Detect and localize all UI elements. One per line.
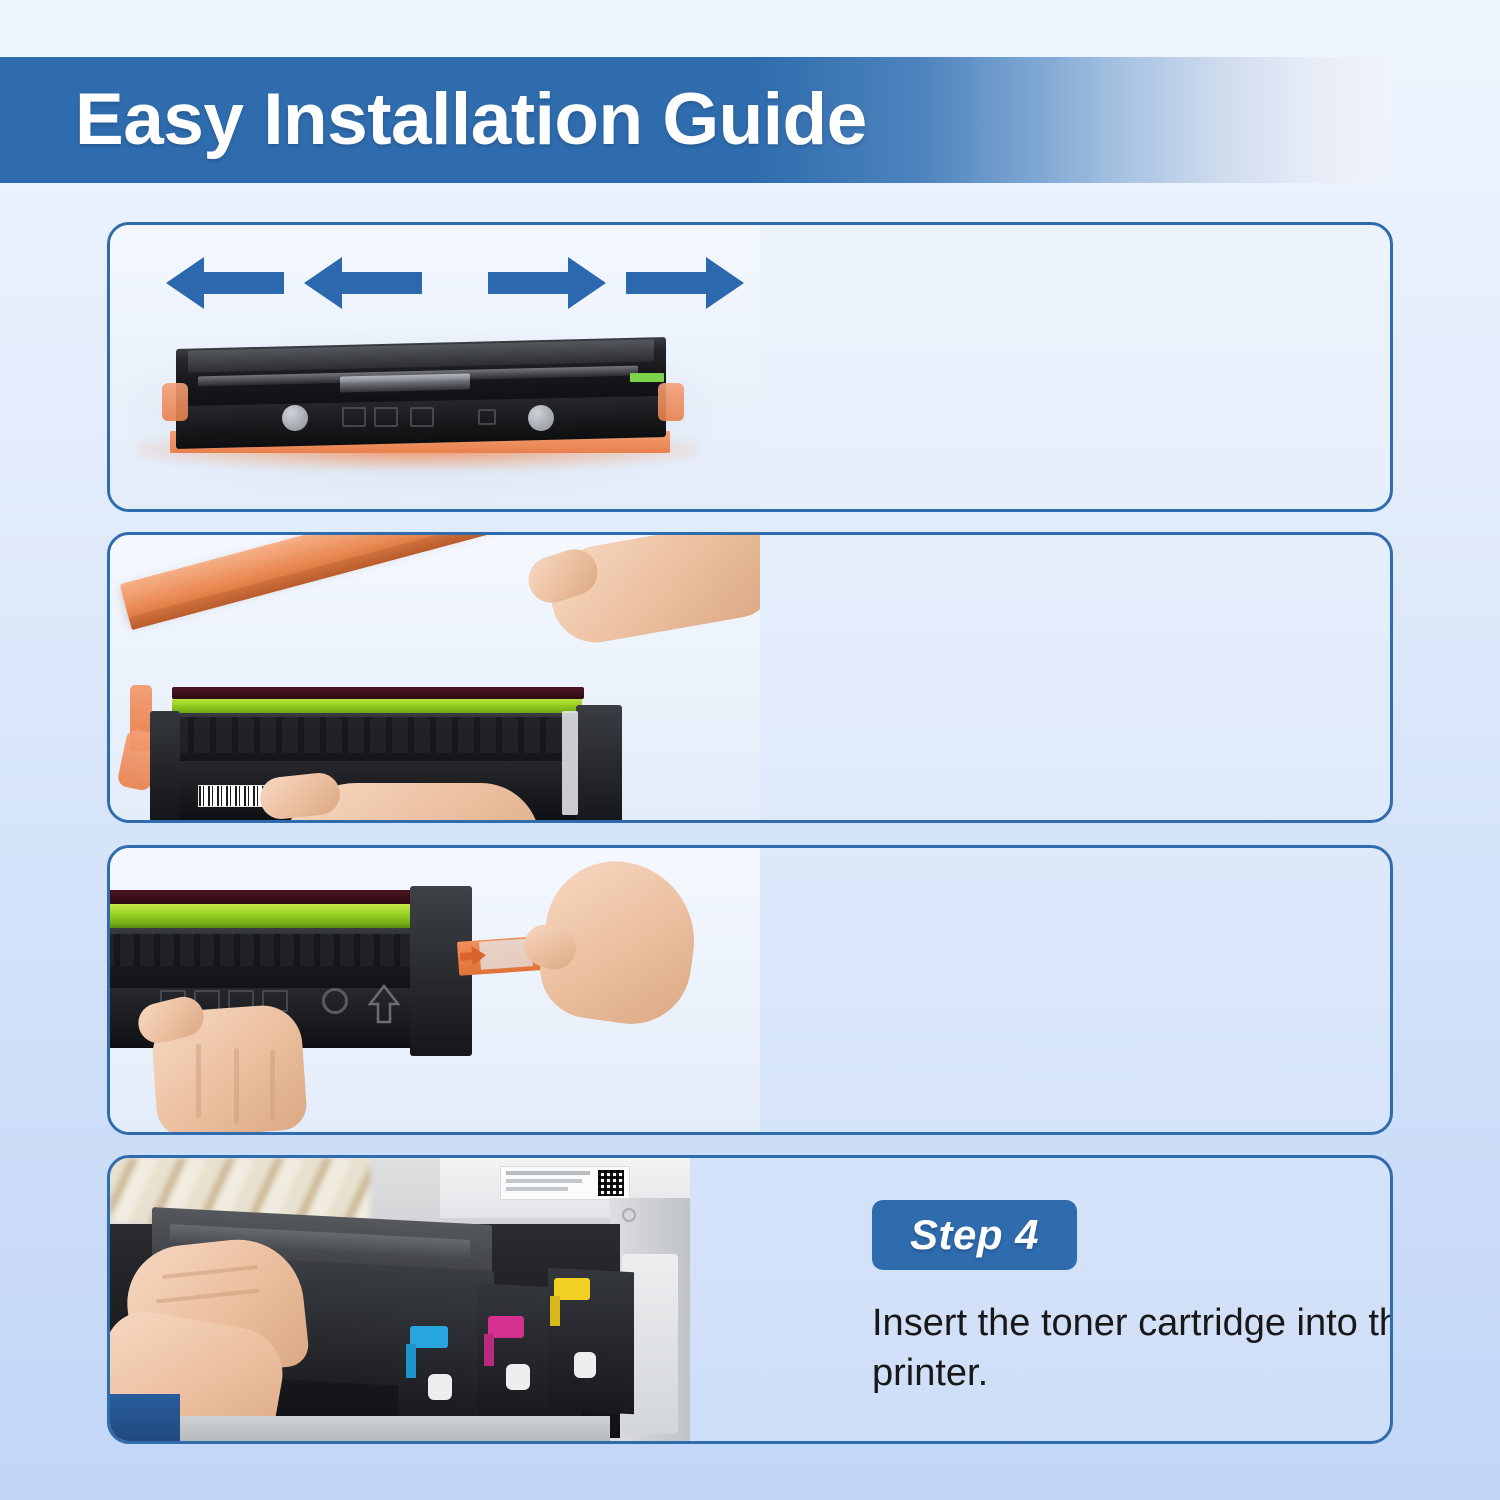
up-arrow-glyph-icon [368,984,400,1024]
step-2-image [110,535,760,820]
step-1-text-block: Step 1 Shake the toner cartridge 5-6 tim… [760,225,1390,509]
step-card-4: Step 4 Insert the toner cartridge into t… [107,1155,1393,1444]
step-3-image [110,848,760,1132]
arrow-left-outer-icon [166,257,284,309]
step-4-badge: Step 4 [872,1200,1077,1270]
step-card-3: Step 3 Pull out the seal tape completely… [107,845,1393,1135]
step-1-image [110,225,760,509]
arrow-left-inner-icon [304,257,422,309]
step-4-image [110,1158,690,1441]
step-card-2: Step 2 Remove the protective cover. [107,532,1393,823]
arrow-right-inner-icon [488,257,606,309]
step-4-text-block: Step 4 Insert the toner cartridge into t… [690,1158,1390,1441]
installation-guide-page: Easy Installation Guide [0,0,1500,1500]
step-4-description: Insert the toner cartridge into the prin… [872,1298,1393,1398]
printer-qr-code [598,1170,624,1196]
tape-pull-arrow-icon [459,945,486,967]
arrow-right-outer-icon [626,257,744,309]
step-card-1: Step 1 Shake the toner cartridge 5-6 tim… [107,222,1393,512]
step-2-text-block: Step 2 Remove the protective cover. [760,535,1390,820]
shake-arrows-group [166,257,726,309]
page-title: Easy Installation Guide [75,57,867,183]
step-3-text-block: Step 3 Pull out the seal tape completely… [760,848,1390,1132]
